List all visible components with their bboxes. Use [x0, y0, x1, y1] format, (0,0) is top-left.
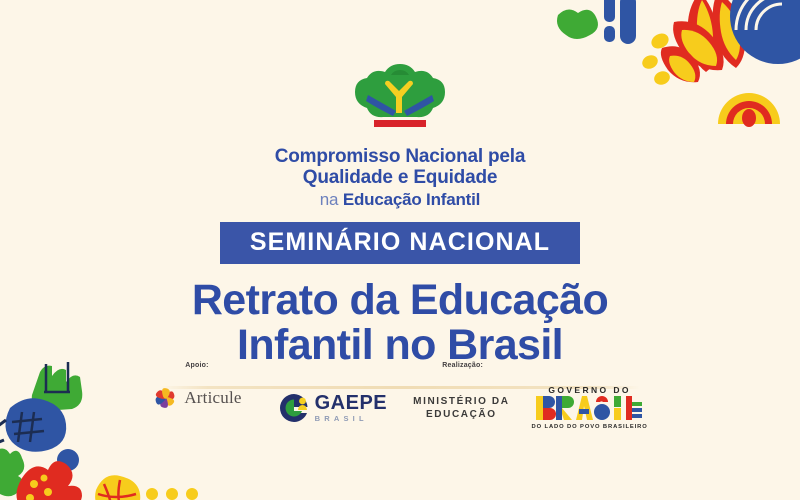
gaepe-text: GAEPE BRASIL — [315, 393, 388, 423]
brand-line-3-bold: Educação Infantil — [343, 190, 480, 209]
articule-pinwheel-icon — [152, 385, 178, 411]
support-block: Apoio: Articule — [152, 362, 241, 411]
poster-content: Compromisso Nacional pela Qualidade e Eq… — [0, 0, 800, 389]
mec-line-1: MINISTÉRIO DA — [413, 396, 509, 407]
government-bottom-label: DO LADO DO POVO BRASILEIRO — [532, 424, 648, 430]
government-logo: GOVERNO DO — [532, 385, 648, 430]
support-caption: Apoio: — [185, 362, 208, 371]
poster-canvas: Compromisso Nacional pela Qualidade e Eq… — [0, 0, 800, 500]
brand-wordmark: Compromisso Nacional pela Qualidade e Eq… — [275, 146, 526, 211]
realization-block: Realização: GAEPE BRASIL — [278, 362, 648, 430]
articule-logo: Articule — [152, 385, 241, 411]
gaepe-subtitle: BRASIL — [315, 415, 388, 423]
government-top-label: GOVERNO DO — [548, 385, 631, 395]
articule-wordmark: Articule — [184, 388, 241, 408]
brand-line-2: Qualidade e Equidade — [303, 167, 498, 188]
gaepe-g-icon — [278, 392, 310, 424]
footer-logos: Apoio: Articule Realização: — [0, 362, 800, 430]
mec-line-2: EDUCAÇÃO — [426, 409, 497, 420]
realization-caption: Realização: — [442, 362, 483, 371]
brand-line-3: na Educação Infantil — [275, 189, 526, 211]
seminar-banner: SEMINÁRIO NACIONAL — [220, 222, 580, 264]
mec-wordmark: MINISTÉRIO DA EDUCAÇÃO — [413, 395, 509, 421]
gaepe-wordmark: GAEPE — [315, 393, 388, 413]
brand-line-1: Compromisso Nacional pela — [275, 146, 526, 167]
brand-line-3-thin: na — [320, 190, 343, 209]
compromisso-nacional-tree-logo-icon — [352, 62, 448, 140]
gaepe-logo: GAEPE BRASIL — [278, 392, 388, 424]
brasil-blocks-icon — [536, 395, 644, 421]
realization-logo-row: GAEPE BRASIL MINISTÉRIO DA EDUCAÇÃO GOVE… — [278, 385, 648, 430]
page-title-line-1: Retrato da Educação — [192, 276, 608, 324]
page-title: Retrato da Educação Infantil no Brasil — [192, 278, 608, 368]
